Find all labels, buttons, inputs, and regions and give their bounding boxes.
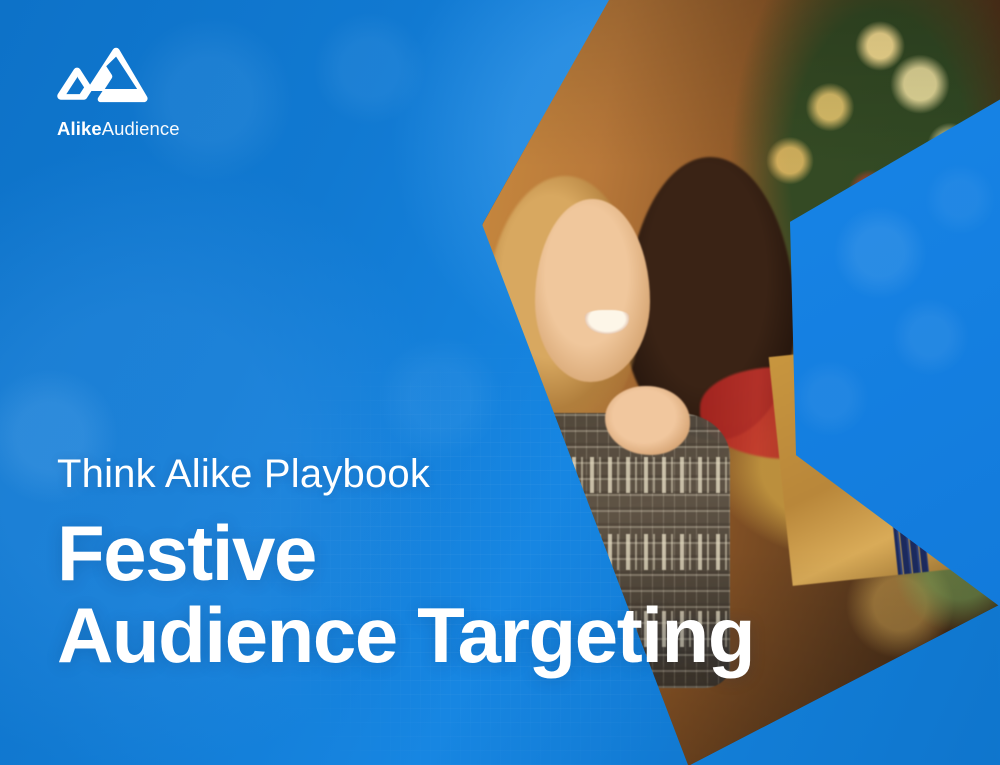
- page-title-line-1: Festive: [57, 509, 316, 597]
- brand-name-bold: Alike: [57, 118, 102, 139]
- cover-page: AlikeAudience Think Alike Playbook Festi…: [0, 0, 1000, 765]
- brand-logo[interactable]: AlikeAudience: [57, 46, 217, 139]
- page-title-line-2: Audience Targeting: [57, 595, 957, 677]
- alike-audience-mountain-icon: [57, 46, 149, 108]
- cover-copy: Think Alike Playbook Festive Audience Ta…: [57, 451, 957, 677]
- brand-name-light: Audience: [102, 118, 180, 139]
- page-title: Festive Audience Targeting: [57, 513, 957, 677]
- brand-wordmark: AlikeAudience: [57, 120, 217, 139]
- eyebrow-series-label: Think Alike Playbook: [57, 451, 957, 497]
